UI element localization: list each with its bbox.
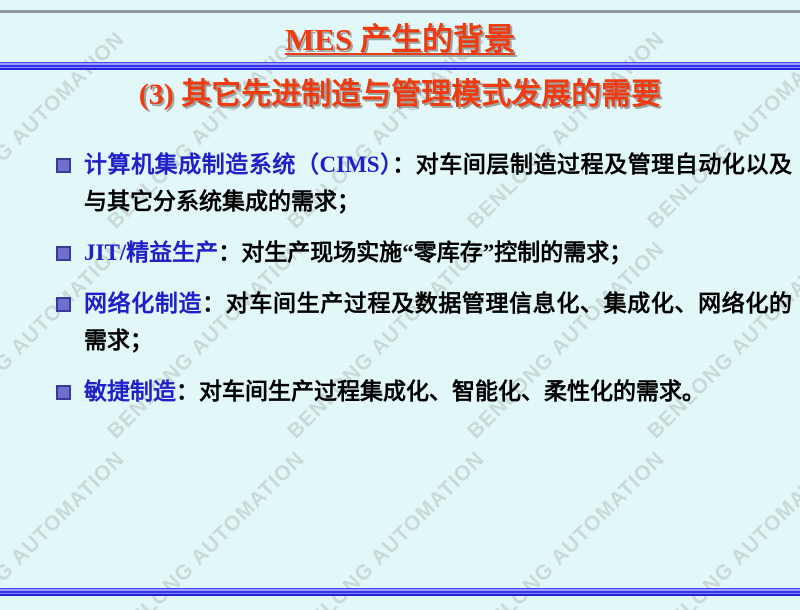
list-item-keyword: 计算机集成制造系统（CIMS） xyxy=(84,152,392,177)
list-item: 计算机集成制造系统（CIMS）：对车间层制造过程及管理自动化以及与其它分系统集成… xyxy=(0,146,800,220)
bullet-list: 计算机集成制造系统（CIMS）：对车间层制造过程及管理自动化以及与其它分系统集成… xyxy=(0,146,800,424)
square-bullet-icon xyxy=(56,297,71,312)
watermark-text: BENLONG AUTOMATION xyxy=(0,447,130,610)
list-item-text: 网络化制造：对车间生产过程及数据管理信息化、集成化、网络化的需求； xyxy=(84,285,792,359)
watermark-text: BENLONG AUTOMATION xyxy=(463,447,670,610)
title-divider-blue xyxy=(0,62,800,70)
list-item-text: 敏捷制造：对车间生产过程集成化、智能化、柔性化的需求。 xyxy=(84,373,792,410)
square-bullet-icon xyxy=(56,158,71,173)
list-item-text: JIT/精益生产：对生产现场实施“零库存”控制的需求； xyxy=(84,234,792,271)
list-item: 网络化制造：对车间生产过程及数据管理信息化、集成化、网络化的需求； xyxy=(0,285,800,359)
watermark-text: BENLONG AUTOMATION xyxy=(643,447,800,610)
list-item: 敏捷制造：对车间生产过程集成化、智能化、柔性化的需求。 xyxy=(0,373,800,410)
bottom-divider-blue xyxy=(0,588,800,596)
list-item-text: 计算机集成制造系统（CIMS）：对车间层制造过程及管理自动化以及与其它分系统集成… xyxy=(84,146,792,220)
list-item-body: ：对车间生产过程集成化、智能化、柔性化的需求。 xyxy=(176,379,705,404)
page-subtitle: (3) 其它先进制造与管理模式发展的需要 xyxy=(0,76,800,114)
page-title: MES 产生的背景 xyxy=(0,21,800,59)
slide-canvas: BENLONG AUTOMATION BENLONG AUTOMATION BE… xyxy=(0,0,800,610)
list-item-body: ：对生产现场实施“零库存”控制的需求； xyxy=(218,240,632,265)
list-item-keyword: 网络化制造 xyxy=(84,291,202,316)
list-item: JIT/精益生产：对生产现场实施“零库存”控制的需求； xyxy=(0,234,800,271)
square-bullet-icon xyxy=(56,246,71,261)
list-item-keyword: JIT/精益生产 xyxy=(84,240,218,265)
square-bullet-icon xyxy=(56,385,71,400)
watermark-text: BENLONG AUTOMATION xyxy=(283,447,490,610)
list-item-keyword: 敏捷制造 xyxy=(84,379,176,404)
top-divider-gray xyxy=(0,10,800,13)
watermark-text: BENLONG AUTOMATION xyxy=(103,447,310,610)
